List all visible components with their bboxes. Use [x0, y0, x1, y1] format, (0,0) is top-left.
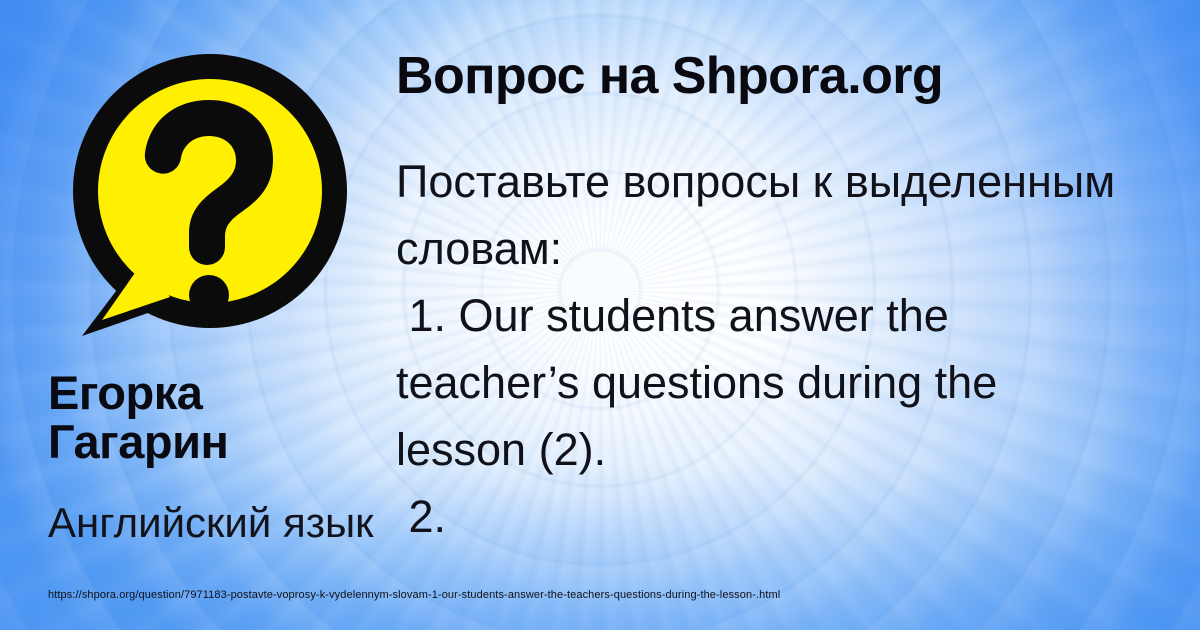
share-card: Вопрос на Shpora.org Поставьте вопросы к… [0, 0, 1200, 630]
author-name: Егорка Гагарин [48, 368, 378, 467]
subject-label: Английский язык [48, 500, 518, 546]
page-title: Вопрос на Shpora.org [396, 48, 1116, 105]
source-url: https://shpora.org/question/7971183-post… [48, 589, 780, 601]
card-content: Вопрос на Shpora.org Поставьте вопросы к… [0, 0, 1200, 630]
question-body-text: Поставьте вопросы к выделенным словам: 1… [396, 148, 1120, 548]
question-speech-bubble-icon [52, 48, 357, 348]
